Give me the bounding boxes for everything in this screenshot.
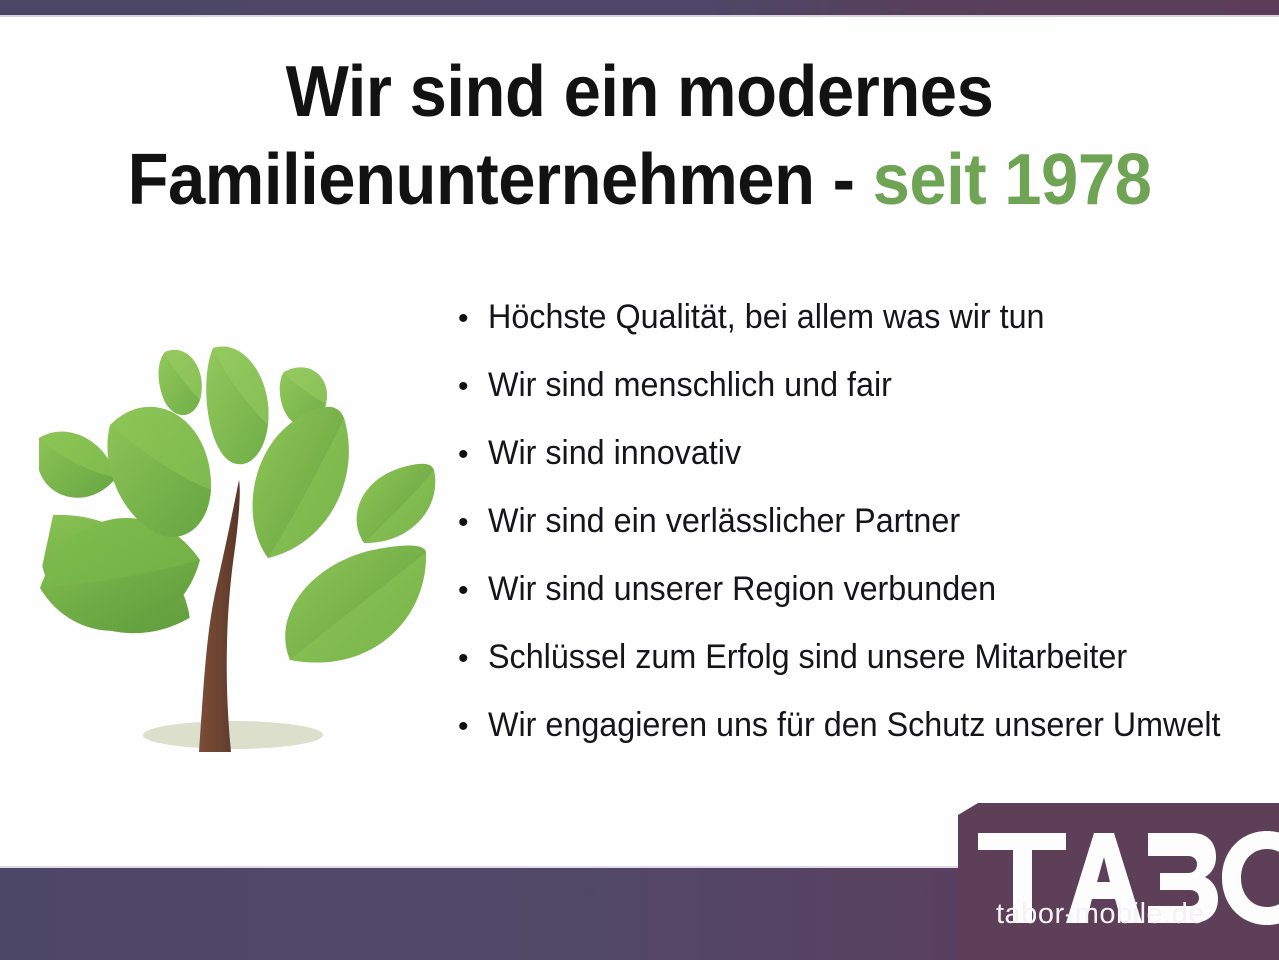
list-item-label: Schlüssel zum Erfolg sind unsere Mitarbe… (488, 640, 1127, 674)
headline-line-2: Familienunternehmen - seit 1978 (45, 136, 1234, 224)
bullet-icon: • (458, 712, 488, 742)
list-item-label: Wir sind menschlich und fair (488, 368, 892, 402)
page-title: Wir sind ein modernes Familienunternehme… (45, 48, 1234, 224)
bullet-icon: • (458, 304, 488, 334)
list-item: • Höchste Qualität, bei allem was wir tu… (458, 300, 1258, 368)
list-item-label: Wir sind innovativ (488, 436, 741, 470)
tabor-url-label: tabor-mobile.de (996, 900, 1205, 929)
headline-line-1: Wir sind ein modernes (45, 48, 1234, 136)
list-item: • Wir sind menschlich und fair (458, 368, 1258, 436)
list-item: • Wir engagieren uns für den Schutz unse… (458, 708, 1258, 776)
tabor-logo-badge[interactable]: tabor-mobile.de (916, 803, 1279, 960)
list-item-label: Wir sind ein verlässlicher Partner (488, 504, 960, 538)
list-item: • Wir sind ein verlässlicher Partner (458, 504, 1258, 572)
bullet-icon: • (458, 576, 488, 606)
list-item-label: Wir engagieren uns für den Schutz unsere… (488, 708, 1220, 742)
bullet-icon: • (458, 440, 488, 470)
top-accent-bar (0, 0, 1279, 15)
value-list: • Höchste Qualität, bei allem was wir tu… (458, 300, 1258, 776)
tree-logo-svg (28, 330, 448, 770)
headline-line-2-main: Familienunternehmen - (128, 140, 873, 220)
list-item-label: Wir sind unserer Region verbunden (488, 572, 996, 606)
list-item-label: Höchste Qualität, bei allem was wir tun (488, 300, 1045, 334)
tree-shadow (143, 721, 323, 749)
tree-trunk (199, 480, 240, 752)
headline-accent-year: seit 1978 (873, 140, 1152, 220)
bullet-icon: • (458, 644, 488, 674)
top-accent-bar-underline (0, 15, 1279, 17)
list-item: • Wir sind unserer Region verbunden (458, 572, 1258, 640)
tree-logo (28, 330, 448, 770)
tabor-wordmark-svg (916, 803, 1279, 960)
bullet-icon: • (458, 372, 488, 402)
bullet-icon: • (458, 508, 488, 538)
slide-canvas: Wir sind ein modernes Familienunternehme… (0, 0, 1279, 960)
list-item: • Schlüssel zum Erfolg sind unsere Mitar… (458, 640, 1258, 708)
list-item: • Wir sind innovativ (458, 436, 1258, 504)
